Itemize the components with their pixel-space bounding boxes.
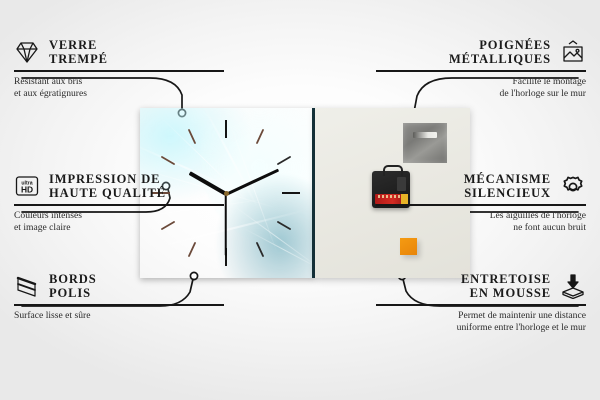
diamond-icon	[14, 39, 40, 65]
feature-impression-haute-qualite: ultra HD IMPRESSION DE HAUTE QUALITÉ Cou…	[14, 172, 224, 235]
feature-description: Facilite le montage de l'horloge sur le …	[376, 76, 586, 101]
feature-mecanisme-silencieux: MÉCANISME SILENCIEUX Les aiguilles de l'…	[376, 172, 586, 235]
metal-hanger-plate	[403, 123, 447, 163]
feature-description: Surface lisse et sûre	[14, 310, 224, 323]
feature-title-line1: IMPRESSION DE	[49, 172, 166, 186]
feature-entretoise-en-mousse: ENTRETOISE EN MOUSSE Permet de maintenir…	[376, 272, 586, 335]
infographic-canvas: VERRE TREMPÉ Résistant aux bris et aux é…	[0, 0, 600, 400]
divider	[376, 70, 586, 72]
foam-spacer	[400, 238, 417, 255]
divider	[376, 304, 586, 306]
feature-title-line1: VERRE	[49, 38, 108, 52]
divider	[14, 70, 224, 72]
feature-title-line2: HAUTE QUALITÉ	[49, 186, 166, 200]
feature-description: Résistant aux bris et aux égratignures	[14, 76, 224, 101]
feature-description: Couleurs intenses et image claire	[14, 210, 224, 235]
diagonal-lines-icon	[14, 273, 40, 299]
feature-poignees-metalliques: POIGNÉES MÉTALLIQUES Facilite le montage…	[376, 38, 586, 101]
feature-description: Permet de maintenir une distance uniform…	[376, 310, 586, 335]
clock-center-cap	[224, 191, 229, 196]
divider	[376, 204, 586, 206]
feature-bords-polis: BORDS POLIS Surface lisse et sûre	[14, 272, 224, 322]
feature-description: Les aiguilles de l'horloge ne font aucun…	[376, 210, 586, 235]
hanger-slot	[413, 132, 437, 138]
feature-title-line2: POLIS	[49, 286, 97, 300]
divider	[14, 304, 224, 306]
divider	[14, 204, 224, 206]
arrow-down-pad-icon	[560, 273, 586, 299]
feature-title-line1: BORDS	[49, 272, 97, 286]
feature-title-line2: TREMPÉ	[49, 52, 108, 66]
feature-title-line2: EN MOUSSE	[461, 286, 551, 300]
feature-title-line2: MÉTALLIQUES	[449, 52, 551, 66]
clock-second-hand	[225, 194, 227, 256]
feature-title-line1: MÉCANISME	[464, 172, 551, 186]
ultra-hd-icon: ultra HD	[14, 173, 40, 199]
gear-icon	[560, 173, 586, 199]
feature-title-line1: POIGNÉES	[449, 38, 551, 52]
feature-verre-trempe: VERRE TREMPÉ Résistant aux bris et aux é…	[14, 38, 224, 101]
svg-text:HD: HD	[21, 185, 33, 195]
feature-title-line1: ENTRETOISE	[461, 272, 551, 286]
picture-frame-icon	[560, 39, 586, 65]
feature-title-line2: SILENCIEUX	[464, 186, 551, 200]
